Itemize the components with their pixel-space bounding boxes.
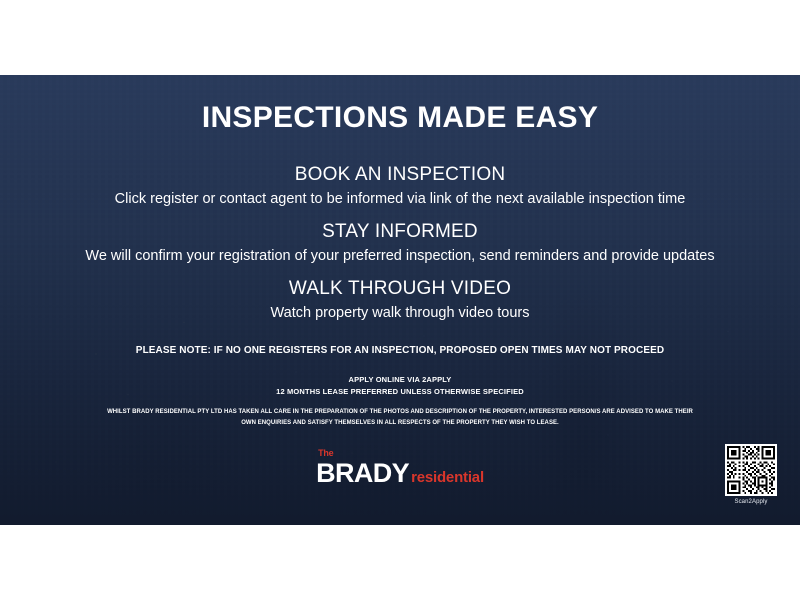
brady-residential-logo: The BRADY residential (0, 460, 800, 487)
section-description: We will confirm your registration of you… (0, 247, 800, 265)
qr-caption: Scan2Apply (722, 499, 780, 505)
apply-online-line: APPLY ONLINE VIA 2APPLY (0, 374, 800, 386)
cityscape-panel: INSPECTIONS MADE EASY BOOK AN INSPECTION… (0, 75, 800, 525)
apply-instructions: APPLY ONLINE VIA 2APPLY 12 MONTHS LEASE … (0, 374, 800, 397)
qr-code-icon[interactable] (725, 444, 777, 496)
logo-wordmark-residential: residential (411, 470, 484, 485)
section-heading: BOOK AN INSPECTION (0, 164, 800, 186)
section-heading: STAY INFORMED (0, 221, 800, 243)
section-book-an-inspection: BOOK AN INSPECTION Click register or con… (0, 164, 800, 208)
section-stay-informed: STAY INFORMED We will confirm your regis… (0, 221, 800, 265)
disclaimer-line-1: WHILST BRADY RESIDENTIAL PTY LTD HAS TAK… (60, 407, 740, 418)
logo-wordmark-brady: BRADY (316, 460, 409, 487)
logo-lockup: The BRADY residential (316, 460, 484, 487)
section-description: Watch property walk through video tours (0, 304, 800, 322)
logo-prefix-the: The (318, 449, 333, 458)
section-description: Click register or contact agent to be in… (0, 190, 800, 208)
page-title: INSPECTIONS MADE EASY (0, 101, 800, 134)
disclaimer: WHILST BRADY RESIDENTIAL PTY LTD HAS TAK… (60, 407, 740, 428)
please-note-text: PLEASE NOTE: IF NO ONE REGISTERS FOR AN … (0, 345, 800, 356)
section-walk-through-video: WALK THROUGH VIDEO Watch property walk t… (0, 278, 800, 322)
disclaimer-line-2: OWN ENQUIRIES AND SATISFY THEMSELVES IN … (60, 418, 740, 429)
section-heading: WALK THROUGH VIDEO (0, 278, 800, 300)
slide-content: INSPECTIONS MADE EASY BOOK AN INSPECTION… (0, 75, 800, 525)
slide-canvas: INSPECTIONS MADE EASY BOOK AN INSPECTION… (0, 0, 800, 600)
lease-term-line: 12 MONTHS LEASE PREFERRED UNLESS OTHERWI… (0, 386, 800, 398)
scan2apply-qr-block[interactable]: Scan2Apply (722, 444, 780, 505)
